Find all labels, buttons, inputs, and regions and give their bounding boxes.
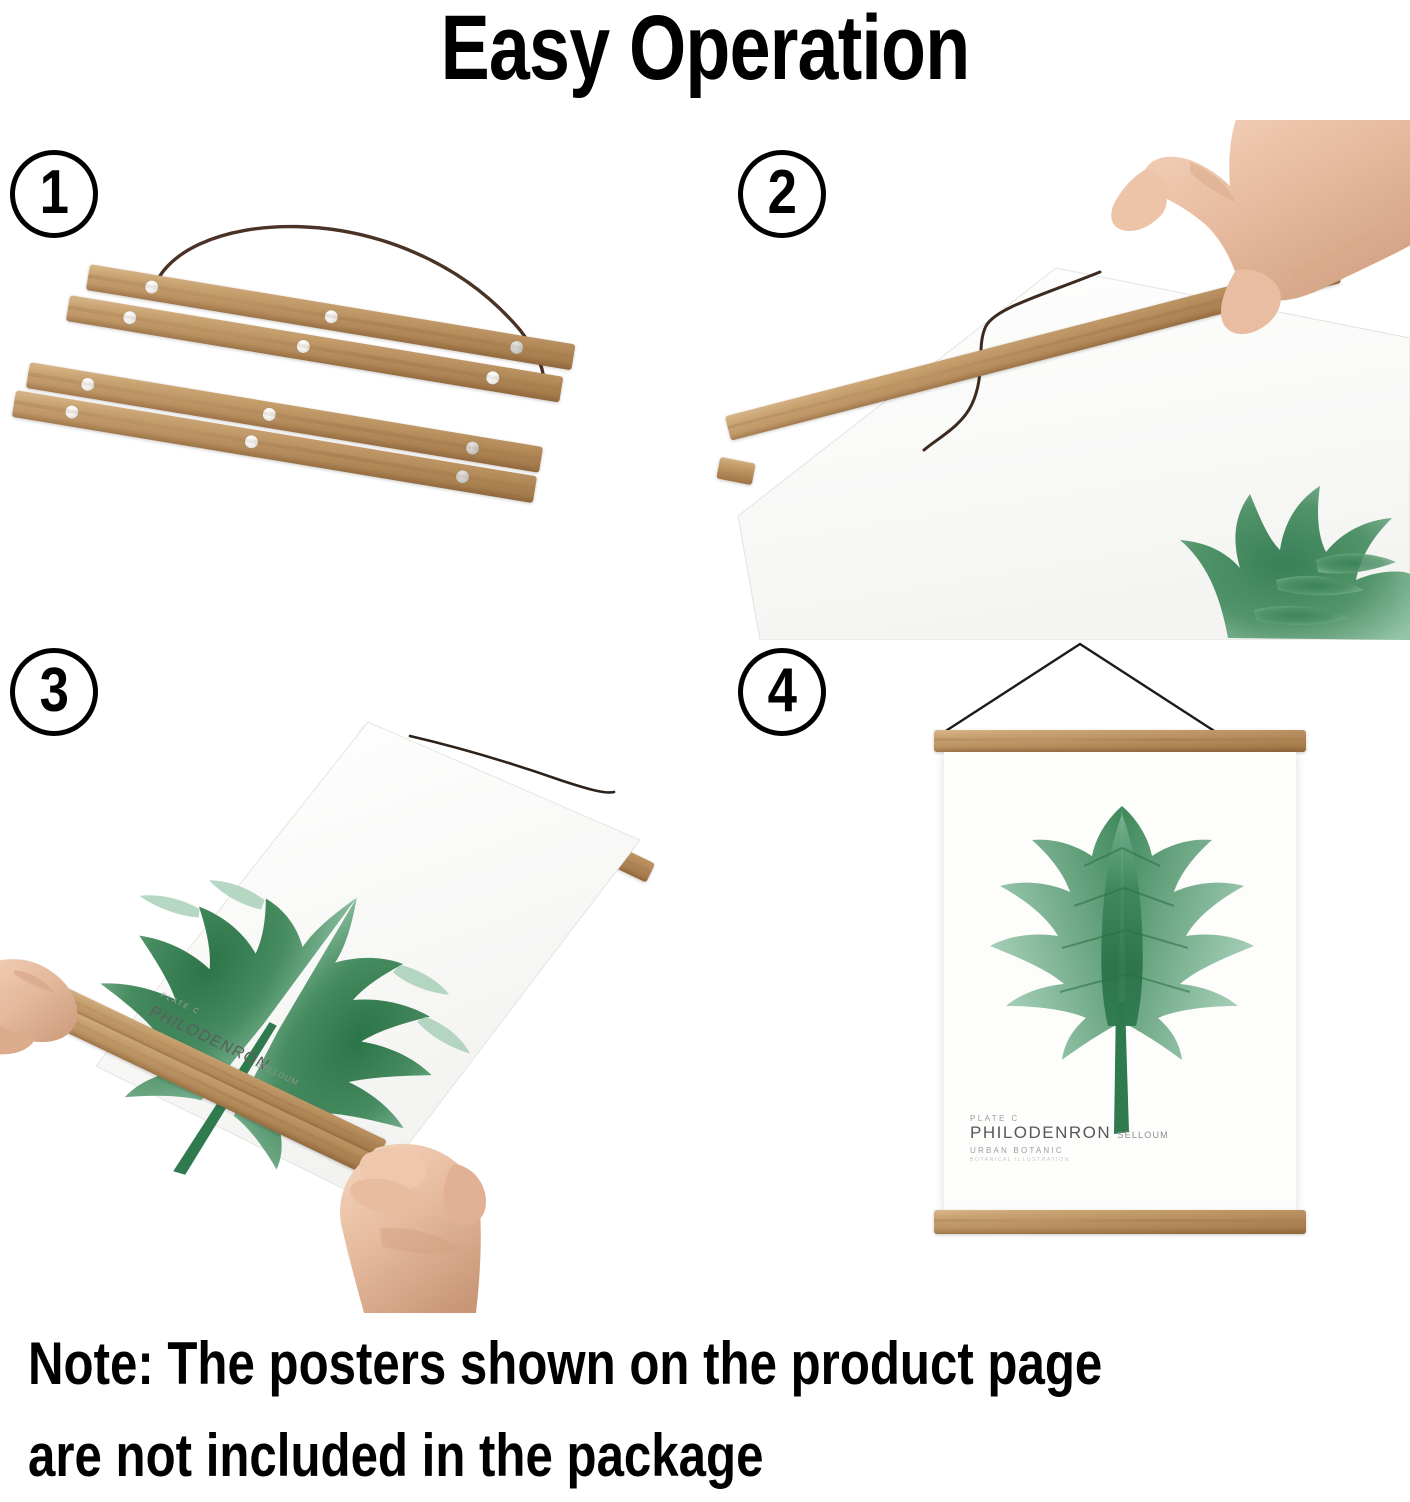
frame-rail-bottom (934, 1210, 1306, 1234)
poster-caption: PLATE C PHILODENRON SELLOUM URBAN BOTANI… (970, 1114, 1169, 1163)
magnet-dot (244, 434, 259, 449)
leaf-illustration (984, 788, 1260, 1156)
note-line-2: are not included in the package (28, 1410, 1143, 1502)
note-text: Note: The posters shown on the product p… (28, 1318, 1143, 1502)
magnet-dot (455, 469, 470, 484)
step-3-badge: 3 (10, 648, 98, 736)
hand-left (0, 940, 136, 1100)
hand-right (310, 1138, 530, 1313)
step-4-panel: 4 (710, 640, 1410, 1300)
step-1-number: 1 (39, 162, 68, 224)
step-2-number: 2 (767, 162, 796, 224)
step-3-panel: 3 (0, 640, 700, 1300)
note-line-1: Note: The posters shown on the product p… (28, 1318, 1143, 1410)
poster-species-text: SELLOUM (1117, 1130, 1168, 1140)
hand-holding-rail (1040, 120, 1410, 460)
poster-sheet: PLATE C PHILODENRON SELLOUM URBAN BOTANI… (944, 752, 1296, 1212)
poster-brand-label: URBAN BOTANIC (970, 1146, 1169, 1155)
poster-name-label: PHILODENRON SELLOUM (970, 1123, 1169, 1143)
step-1-panel: 1 (0, 140, 700, 640)
step-4-number: 4 (767, 660, 796, 722)
page-title: Easy Operation (141, 0, 1269, 100)
step-1-badge: 1 (10, 150, 98, 238)
magnet-dot (64, 405, 79, 420)
poster-plate-label: PLATE C (970, 1114, 1169, 1123)
poster-subline-label: BOTANICAL ILLUSTRATION (970, 1157, 1169, 1163)
step-4-badge: 4 (738, 648, 826, 736)
step-2-panel: 2 (710, 140, 1410, 640)
step-3-number: 3 (39, 660, 68, 722)
step-2-badge: 2 (738, 150, 826, 238)
hanging-cord (920, 640, 1240, 744)
frame-rail-top (934, 730, 1306, 752)
poster-name-text: PHILODENRON (970, 1123, 1111, 1142)
